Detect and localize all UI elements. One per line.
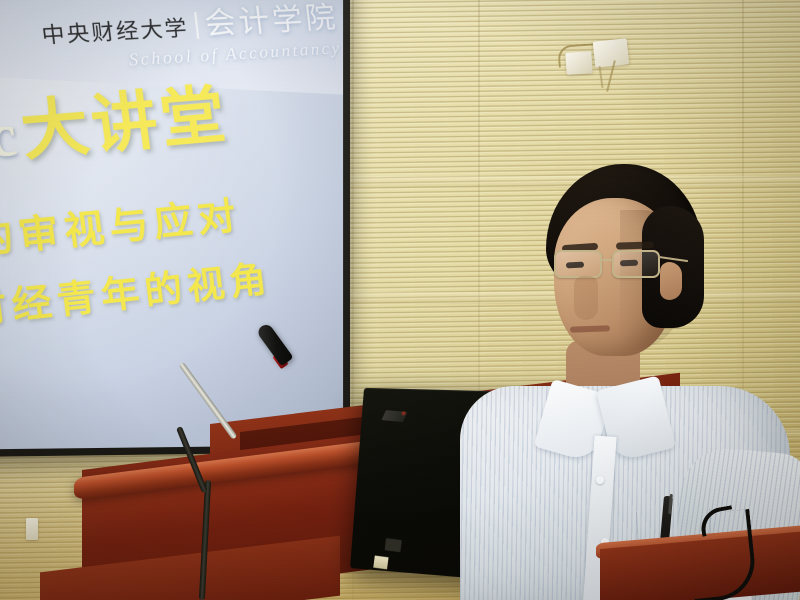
fixture-plate [593, 38, 630, 67]
mic-gooseneck-mid [176, 426, 208, 493]
lens-left [554, 250, 602, 278]
laptop-sticker [373, 556, 388, 570]
glasses-bridge [601, 259, 614, 261]
eyeglasses-icon [554, 250, 666, 280]
nose [574, 276, 598, 320]
fixture-plate-secondary [565, 51, 592, 75]
photo-scene: 中央财经大学会计学院 School of Accountancy MPAcc大讲… [0, 0, 800, 600]
wall-fixture-icon [548, 30, 653, 92]
electrical-wall-plate-icon [26, 518, 38, 540]
fixture-wire-secondary [598, 66, 603, 88]
eyebrow-right [616, 241, 654, 249]
mic-gooseneck-lower [199, 480, 211, 600]
shirt-button [596, 476, 604, 484]
laptop-badge [385, 538, 402, 552]
mic-gooseneck-upper [178, 362, 237, 440]
lens-right [612, 250, 660, 278]
